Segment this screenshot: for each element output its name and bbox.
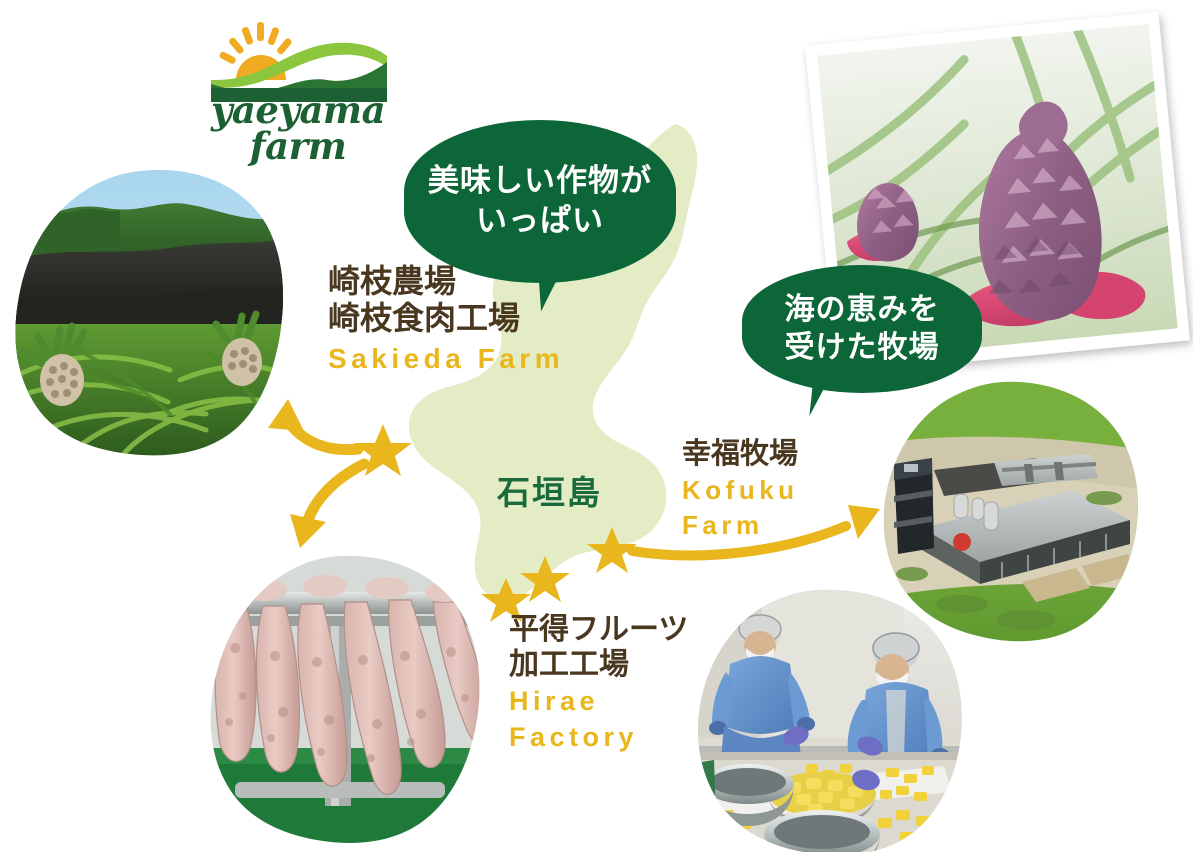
hirae-jp-line2: 加工工場 (509, 647, 688, 682)
speech-bubble-tail (809, 364, 846, 419)
fruit-processing-workers-photo (690, 588, 972, 852)
arrow-to-sausage-rack (290, 464, 364, 548)
pineapple-field-photo (10, 164, 286, 458)
hirae-en-line1: Hirae (509, 686, 688, 718)
yaeyama-farm-logo: yaeyama farm (203, 14, 393, 159)
kofuku-jp-line1: 幸福牧場 (682, 437, 799, 471)
infographic-canvas: yaeyama farm 石垣島 (0, 0, 1193, 852)
bubble-sea-line2: 受けた牧場 (785, 329, 940, 367)
hirae-en-line2: Factory (509, 722, 688, 754)
hirae-jp-line1: 平得フルーツ (509, 612, 688, 647)
logo-name-line1: yaeyama (203, 92, 393, 128)
location-label-hirae[interactable]: 平得フルーツ 加工工場 Hirae Factory (509, 612, 688, 754)
sakieda-jp-line2: 崎枝食肉工場 (328, 300, 564, 337)
kofuku-en-line1: Kofuku (682, 475, 799, 506)
logo-wordmark: yaeyama farm (203, 92, 393, 165)
bubble-delicious-line1: 美味しい作物が (428, 162, 652, 202)
speech-bubble-delicious: 美味しい作物が いっぱい (404, 120, 676, 283)
speech-bubble-sea: 海の恵みを 受けた牧場 (742, 265, 982, 393)
location-label-kofuku[interactable]: 幸福牧場 Kofuku Farm (682, 437, 799, 540)
sausage-production-photo (205, 552, 487, 846)
bubble-sea-line1: 海の恵みを (785, 291, 940, 329)
sakieda-en-name: Sakieda Farm (328, 342, 564, 375)
sakieda-jp-line1: 崎枝農場 (328, 263, 564, 300)
island-name-label: 石垣島 (497, 466, 602, 514)
location-label-sakieda[interactable]: 崎枝農場 崎枝食肉工場 Sakieda Farm (328, 263, 564, 375)
kofuku-en-line2: Farm (682, 510, 799, 541)
bubble-delicious-line2: いっぱい (476, 202, 604, 242)
logo-name-line2: farm (203, 128, 393, 164)
